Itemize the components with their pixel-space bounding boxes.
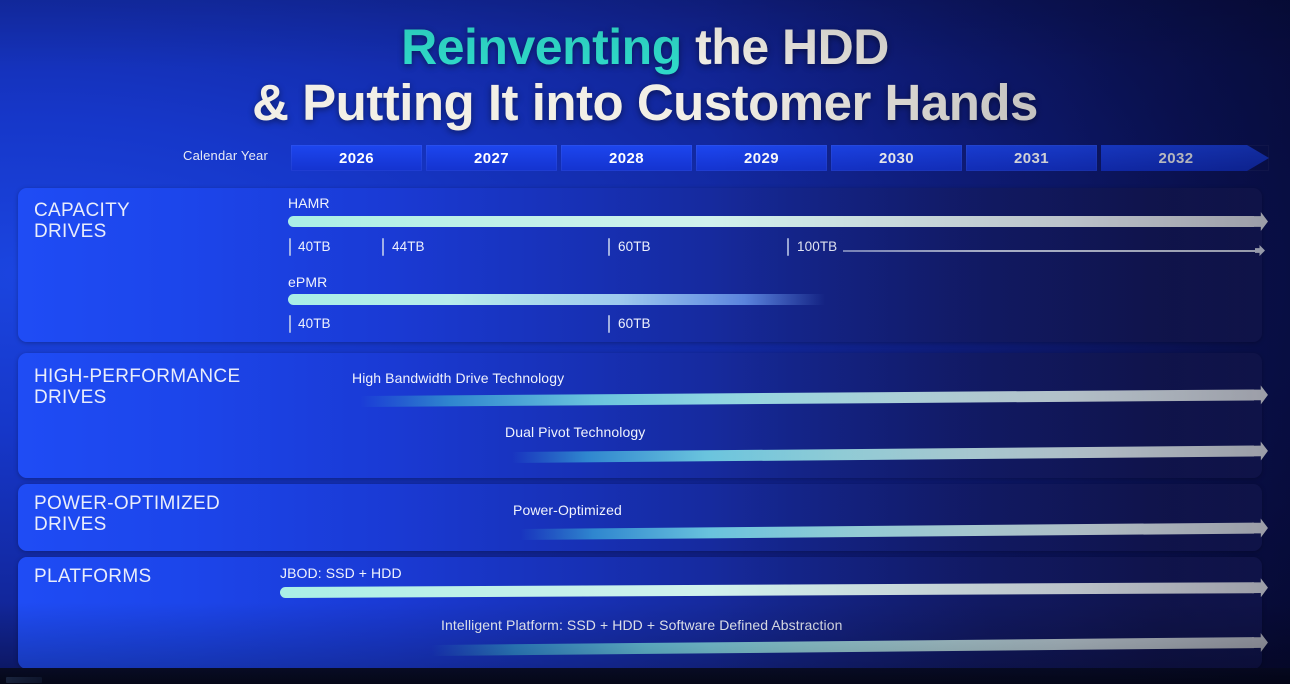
year-cell-2026[interactable]: 2026 xyxy=(291,145,422,171)
title-accent-word: Reinventing xyxy=(401,19,682,75)
row-title-hamr: HAMR xyxy=(288,195,330,211)
tick-hamr-100tb xyxy=(787,238,789,256)
capacity-hamr-44tb: 44TB xyxy=(392,239,425,254)
bar-epmr xyxy=(288,294,825,305)
timeline-header: Calendar Year 2026 2027 2028 2029 2030 2… xyxy=(0,145,1290,171)
year-cell-2032[interactable]: 2032 xyxy=(1101,145,1269,171)
section-label: PLATFORMS xyxy=(34,566,151,587)
roadmap-slide: Reinventing the HDD & Putting It into Cu… xyxy=(0,0,1290,684)
row-title-power-optimized: Power-Optimized xyxy=(513,502,622,518)
bar-body xyxy=(288,216,1254,227)
bar-body xyxy=(288,294,825,305)
year-cell-2028[interactable]: 2028 xyxy=(561,145,692,171)
hamr-100tb-continuation-line xyxy=(843,250,1256,252)
title-line-1-rest: the HDD xyxy=(682,19,889,75)
tick-epmr-40tb xyxy=(289,315,291,333)
year-label: 2028 xyxy=(609,150,644,167)
section-power-optimized-drives: POWER-OPTIMIZED DRIVES xyxy=(18,484,1262,551)
capacity-hamr-100tb: 100TB xyxy=(797,239,837,254)
capacity-hamr-60tb: 60TB xyxy=(618,239,651,254)
corner-watermark xyxy=(6,677,42,683)
bottom-edge-strip xyxy=(0,668,1290,684)
year-cell-2031[interactable]: 2031 xyxy=(966,145,1097,171)
calendar-year-label: Calendar Year xyxy=(183,148,287,163)
year-label: 2029 xyxy=(744,150,779,167)
section-label: HIGH-PERFORMANCE DRIVES xyxy=(34,366,240,409)
slide-title: Reinventing the HDD & Putting It into Cu… xyxy=(0,22,1290,129)
year-cell-2027[interactable]: 2027 xyxy=(426,145,557,171)
bar-hamr xyxy=(288,216,1268,227)
capacity-epmr-60tb: 60TB xyxy=(618,316,651,331)
year-label: 2027 xyxy=(474,150,509,167)
row-title-jbod: JBOD: SSD + HDD xyxy=(280,565,402,581)
year-cell-2030[interactable]: 2030 xyxy=(831,145,962,171)
row-title-epmr: ePMR xyxy=(288,274,327,290)
tick-hamr-44tb xyxy=(382,238,384,256)
year-label: 2031 xyxy=(1014,150,1049,167)
row-title-dual-pivot: Dual Pivot Technology xyxy=(505,424,645,440)
section-label: POWER-OPTIMIZED DRIVES xyxy=(34,493,220,536)
year-cell-2029[interactable]: 2029 xyxy=(696,145,827,171)
tick-hamr-60tb xyxy=(608,238,610,256)
title-line-1: Reinventing the HDD xyxy=(0,22,1290,73)
row-title-intelligent-platform: Intelligent Platform: SSD + HDD + Softwa… xyxy=(441,617,843,633)
year-label: 2030 xyxy=(879,150,914,167)
row-title-high-bandwidth: High Bandwidth Drive Technology xyxy=(352,370,564,386)
year-label: 2026 xyxy=(339,150,374,167)
section-label: CAPACITY DRIVES xyxy=(34,200,130,243)
tick-epmr-60tb xyxy=(608,315,610,333)
capacity-hamr-40tb: 40TB xyxy=(298,239,331,254)
year-label: 2032 xyxy=(1101,145,1269,171)
capacity-epmr-40tb: 40TB xyxy=(298,316,331,331)
tick-hamr-40tb xyxy=(289,238,291,256)
title-line-2: & Putting It into Customer Hands xyxy=(0,77,1290,129)
